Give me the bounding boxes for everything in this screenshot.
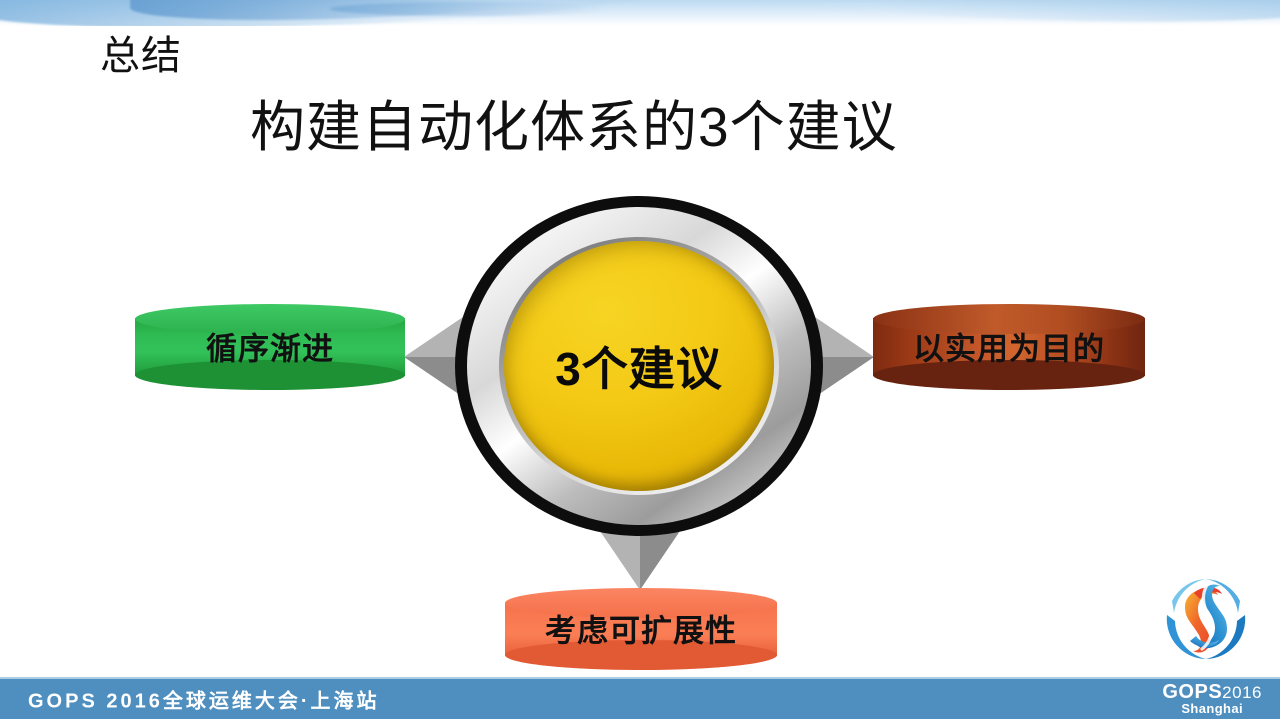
node-right-advice[interactable]: 以实用为目的 — [873, 304, 1145, 390]
footer-brand-line1: GOPS2016 — [1162, 682, 1262, 702]
node-left-advice[interactable]: 循序渐进 — [135, 304, 405, 390]
center-hub: 3个建议 — [455, 196, 823, 536]
gops-logo-icon — [1154, 567, 1258, 671]
footer-brand-city: Shanghai — [1162, 703, 1262, 716]
node-left-label: 循序渐进 — [135, 324, 405, 369]
footer-bar: GOPS 2016全球运维大会·上海站 GOPS2016 Shanghai — [0, 677, 1280, 719]
hub-label: 3个建议 — [455, 333, 823, 399]
band-wave-4 — [330, 2, 610, 16]
node-right-label: 以实用为目的 — [873, 324, 1145, 369]
page-title: 构建自动化体系的3个建议 — [250, 97, 898, 159]
top-decorative-band — [0, 0, 1280, 26]
footer-brand: GOPS2016 Shanghai — [1162, 682, 1262, 716]
section-kicker: 总结 — [100, 33, 182, 79]
node-bottom-advice[interactable]: 考虑可扩展性 — [505, 588, 777, 670]
band-wave-3 — [720, 0, 1280, 26]
node-bottom-label: 考虑可扩展性 — [505, 606, 777, 651]
footer-brand-name: GOPS — [1162, 681, 1222, 703]
footer-brand-year: 2016 — [1222, 683, 1262, 702]
footer-conference-text: GOPS 2016全球运维大会·上海站 — [28, 685, 380, 714]
slide-canvas: 总结 构建自动化体系的3个建议 3个建议 循序渐进 以实用为目的 考虑可扩展性 — [0, 0, 1280, 719]
arrow-down-sheen — [598, 528, 640, 590]
